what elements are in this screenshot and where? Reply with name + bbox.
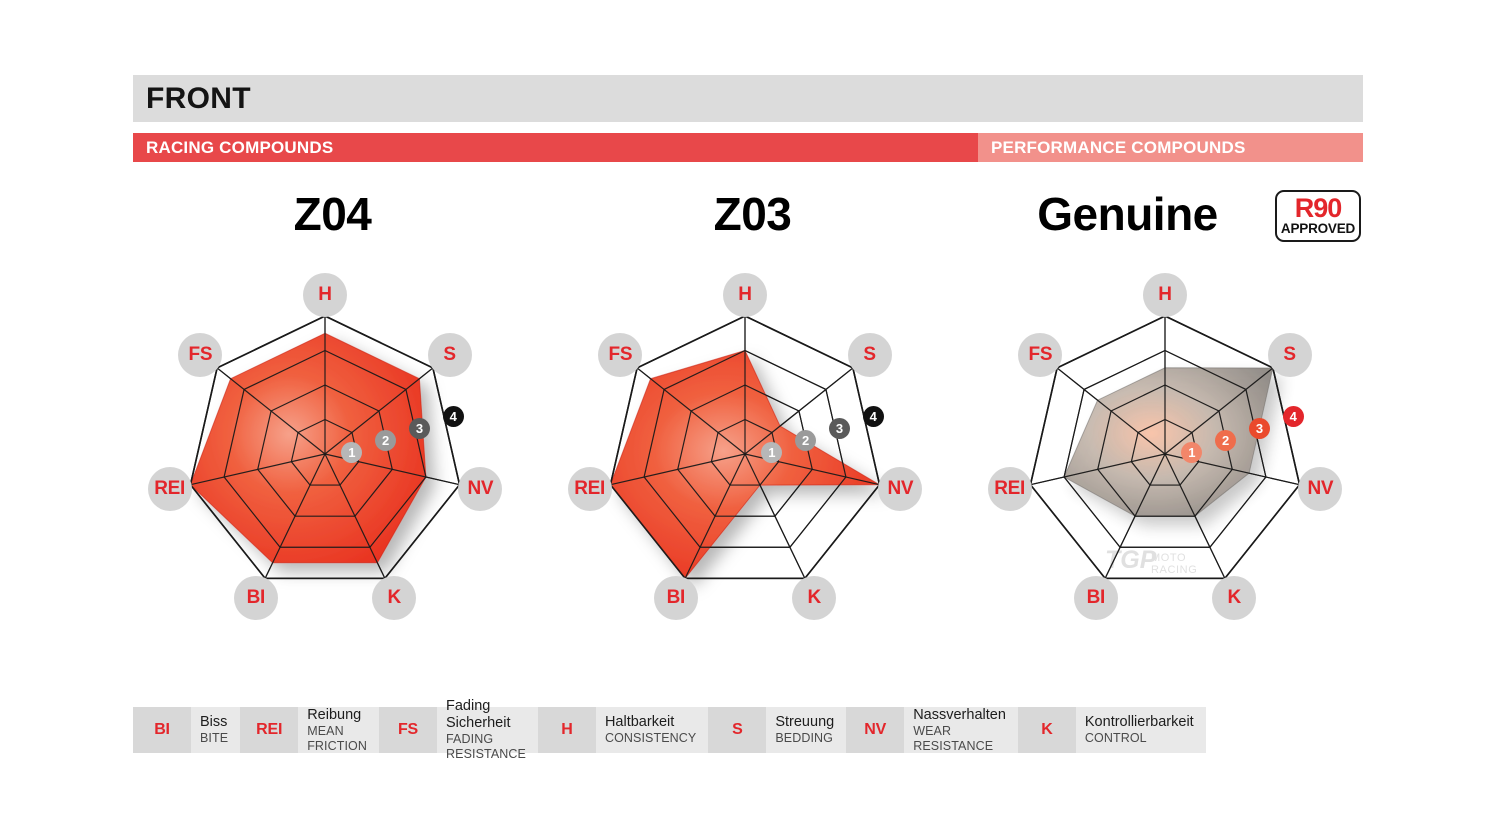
r90-approved-badge: R90 APPROVED — [1275, 190, 1361, 242]
axis-label-REI: REI — [988, 467, 1032, 511]
axis-label-text: K — [387, 587, 400, 609]
radar-plot: TGPMOTORACING — [115, 262, 535, 662]
legend-item: BIBissBITE — [133, 707, 240, 753]
axis-label-FS: FS — [1018, 333, 1062, 377]
axis-label-text: NV — [1307, 478, 1333, 500]
axis-label-text: S — [863, 344, 875, 366]
band-performance-label: PERFORMANCE COMPOUNDS — [978, 139, 1246, 156]
ring-value-text: 2 — [802, 433, 809, 448]
radar-grid-overlay — [610, 316, 879, 578]
ring-value-text: 1 — [348, 445, 355, 460]
r90-badge-status: APPROVED — [1281, 222, 1355, 236]
legend-term-de: Nassverhalten — [913, 707, 1006, 724]
legend-description: KontrollierbarkeitCONTROL — [1076, 707, 1206, 753]
svg-text:TGP: TGP — [1105, 546, 1157, 574]
legend-term-de: Haltbarkeit — [605, 714, 696, 731]
axis-label-BI: BI — [234, 576, 278, 620]
axis-label-S: S — [848, 333, 892, 377]
ring-value-text: 2 — [1222, 433, 1229, 448]
page-title: FRONT — [133, 84, 251, 114]
legend-description: BissBITE — [191, 707, 240, 753]
compound-title-genuine: Genuine — [1000, 188, 1255, 240]
radar-plot: TGPMOTORACING — [535, 262, 955, 662]
legend-term-de: Biss — [200, 714, 228, 731]
legend-code-FS: FS — [379, 707, 437, 753]
legend-term-en: FADING RESISTANCE — [446, 732, 526, 762]
axis-label-text: REI — [154, 478, 185, 500]
axis-label-text: REI — [574, 478, 605, 500]
axis-label-text: NV — [467, 478, 493, 500]
svg-text:MOTO: MOTO — [1151, 552, 1186, 564]
legend-term-de: Kontrollierbarkeit — [1085, 714, 1194, 731]
axis-label-text: BI — [247, 587, 265, 609]
legend-code-BI: BI — [133, 707, 191, 753]
axis-label-FS: FS — [178, 333, 222, 377]
legend-item: NVNassverhaltenWEAR RESISTANCE — [846, 707, 1018, 753]
legend-code-K: K — [1018, 707, 1076, 753]
legend-code-H: H — [538, 707, 596, 753]
legend-item: FSFading SicherheitFADING RESISTANCE — [379, 707, 538, 753]
legend-item: SStreuungBEDDING — [708, 707, 846, 753]
legend-description: HaltbarkeitCONSISTENCY — [596, 707, 708, 753]
svg-text:RACING: RACING — [731, 564, 777, 576]
legend-item: HHaltbarkeitCONSISTENCY — [538, 707, 708, 753]
category-band: RACING COMPOUNDS PERFORMANCE COMPOUNDS — [133, 133, 1363, 162]
axis-label-text: H — [318, 284, 331, 306]
ring-value-text: 3 — [416, 421, 423, 436]
axis-label-text: FS — [189, 344, 213, 366]
ring-value-badge-2: 2 — [795, 430, 816, 451]
diagram-canvas: FRONT RACING COMPOUNDS PERFORMANCE COMPO… — [0, 0, 1500, 820]
axis-label-text: S — [443, 344, 455, 366]
axis-label-H: H — [1143, 273, 1187, 317]
ring-value-badge-4: 4 — [443, 406, 464, 427]
legend-term-en: BITE — [200, 731, 228, 746]
ring-value-text: 4 — [450, 409, 457, 424]
axis-label-text: K — [1227, 587, 1240, 609]
abbreviation-legend: BIBissBITEREIReibungMEAN FRICTIONFSFadin… — [133, 707, 1143, 753]
ring-value-badge-3: 3 — [829, 418, 850, 439]
ring-value-text: 4 — [1290, 409, 1297, 424]
r90-badge-code: R90 — [1295, 196, 1342, 222]
axis-label-H: H — [303, 273, 347, 317]
legend-item: KKontrollierbarkeitCONTROL — [1018, 707, 1206, 753]
legend-term-en: MEAN FRICTION — [307, 724, 367, 754]
ring-value-text: 1 — [1188, 445, 1195, 460]
legend-description: ReibungMEAN FRICTION — [298, 707, 379, 753]
legend-description: Fading SicherheitFADING RESISTANCE — [437, 707, 538, 753]
legend-term-de: Fading Sicherheit — [446, 698, 526, 732]
radar-chart-z04: TGPMOTORACINGHSNVKBIREIFS1234 — [115, 262, 535, 662]
axis-label-text: H — [1158, 284, 1171, 306]
section-title-bar: FRONT — [133, 75, 1363, 122]
radar-series-polygon — [1064, 368, 1273, 516]
ring-value-text: 3 — [836, 421, 843, 436]
legend-code-text: NV — [864, 721, 886, 739]
axis-label-text: NV — [887, 478, 913, 500]
legend-code-text: S — [732, 721, 742, 739]
axis-label-text: REI — [994, 478, 1025, 500]
legend-term-en: BEDDING — [775, 731, 834, 746]
axis-label-text: BI — [667, 587, 685, 609]
axis-label-BI: BI — [1074, 576, 1118, 620]
band-racing-compounds: RACING COMPOUNDS — [133, 133, 978, 162]
radar-chart-genuine: TGPMOTORACINGHSNVKBIREIFS1234 — [955, 262, 1375, 662]
radar-grid-overlay — [1030, 316, 1299, 578]
ring-value-text: 3 — [1256, 421, 1263, 436]
legend-term-de: Reibung — [307, 707, 367, 724]
ring-value-badge-4: 4 — [863, 406, 884, 427]
axis-label-text: K — [807, 587, 820, 609]
legend-term-en: CONSISTENCY — [605, 731, 696, 746]
legend-item: REIReibungMEAN FRICTION — [240, 707, 379, 753]
svg-text:RACING: RACING — [1151, 564, 1197, 576]
compound-title-z03: Z03 — [590, 188, 915, 240]
axis-label-REI: REI — [568, 467, 612, 511]
radar-plot: TGPMOTORACING — [955, 262, 1375, 662]
legend-description: StreuungBEDDING — [766, 707, 846, 753]
ring-value-badge-4: 4 — [1283, 406, 1304, 427]
legend-code-text: H — [561, 721, 572, 739]
legend-description: NassverhaltenWEAR RESISTANCE — [904, 707, 1018, 753]
legend-code-REI: REI — [240, 707, 298, 753]
axis-label-S: S — [428, 333, 472, 377]
axis-label-text: H — [738, 284, 751, 306]
legend-code-text: K — [1041, 721, 1052, 739]
ring-value-text: 2 — [382, 433, 389, 448]
legend-term-en: WEAR RESISTANCE — [913, 724, 1006, 754]
axis-label-S: S — [1268, 333, 1312, 377]
legend-term-en: CONTROL — [1085, 731, 1194, 746]
ring-value-badge-3: 3 — [409, 418, 430, 439]
svg-text:RACING: RACING — [311, 564, 357, 576]
legend-code-S: S — [708, 707, 766, 753]
axis-label-REI: REI — [148, 467, 192, 511]
radar-chart-z03: TGPMOTORACINGHSNVKBIREIFS1234 — [535, 262, 955, 662]
ring-value-text: 1 — [768, 445, 775, 460]
ring-value-badge-2: 2 — [1215, 430, 1236, 451]
compound-title-z04: Z04 — [170, 188, 495, 240]
legend-code-NV: NV — [846, 707, 904, 753]
ring-value-badge-3: 3 — [1249, 418, 1270, 439]
band-performance-compounds: PERFORMANCE COMPOUNDS — [978, 133, 1363, 162]
axis-label-text: BI — [1087, 587, 1105, 609]
legend-code-text: BI — [154, 721, 170, 739]
axis-label-H: H — [723, 273, 767, 317]
axis-label-BI: BI — [654, 576, 698, 620]
legend-code-text: FS — [398, 721, 418, 739]
legend-term-de: Streuung — [775, 714, 834, 731]
axis-label-K: K — [1212, 576, 1256, 620]
legend-code-text: REI — [256, 721, 282, 739]
axis-label-text: S — [1283, 344, 1295, 366]
svg-text:MOTO: MOTO — [731, 552, 766, 564]
axis-label-K: K — [372, 576, 416, 620]
band-racing-label: RACING COMPOUNDS — [133, 139, 333, 156]
axis-label-text: FS — [1029, 344, 1053, 366]
axis-label-FS: FS — [598, 333, 642, 377]
axis-label-text: FS — [609, 344, 633, 366]
axis-label-K: K — [792, 576, 836, 620]
ring-value-text: 4 — [870, 409, 877, 424]
ring-value-badge-2: 2 — [375, 430, 396, 451]
